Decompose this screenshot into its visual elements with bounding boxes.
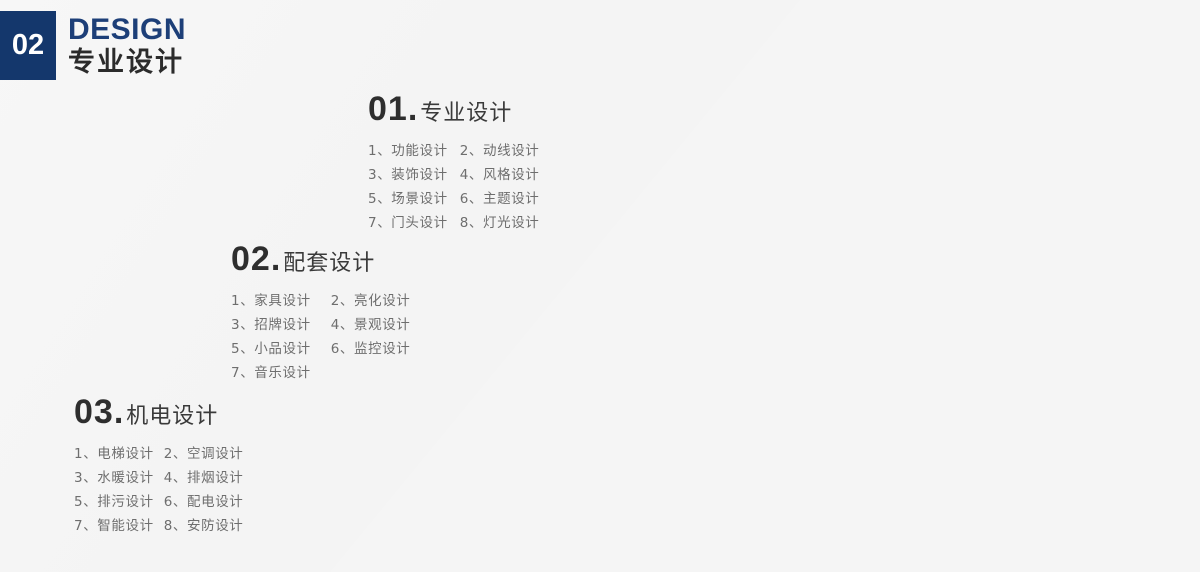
- list-row: 7、智能设计 8、安防设计: [74, 514, 243, 538]
- list-item: 7、音乐设计: [231, 361, 311, 385]
- section-01-heading: 01. 专业设计: [368, 90, 539, 129]
- content-section-02: 02. 配套设计 1、家具设计 2、亮化设计 3、招牌设计 4、景观设计 5、小…: [231, 240, 410, 385]
- list-row: 5、场景设计 6、主题设计: [368, 187, 539, 211]
- list-item: 3、装饰设计: [368, 163, 448, 187]
- list-item: 4、景观设计: [331, 313, 411, 337]
- list-item: 5、排污设计: [74, 490, 154, 514]
- list-item: 5、场景设计: [368, 187, 448, 211]
- page-title-en: DESIGN: [68, 14, 186, 46]
- list-item: 5、小品设计: [231, 337, 311, 361]
- list-item: 6、配电设计: [164, 490, 244, 514]
- section-01-number: 01.: [368, 90, 418, 129]
- section-02-number: 02.: [231, 240, 281, 279]
- list-item: 2、动线设计: [460, 139, 540, 163]
- list-row: 3、招牌设计 4、景观设计: [231, 313, 410, 337]
- slide-root: 02 DESIGN 专业设计 01. 专业设计 1、功能设计 2、动线设计 3、…: [0, 0, 1200, 572]
- section-02-name: 配套设计: [283, 245, 375, 277]
- list-row: 1、家具设计 2、亮化设计: [231, 289, 410, 313]
- section-03-name: 机电设计: [126, 398, 218, 430]
- list-item: 3、水暖设计: [74, 466, 154, 490]
- list-item: 1、家具设计: [231, 289, 311, 313]
- header-text-block: DESIGN 专业设计: [68, 14, 186, 77]
- list-row: 1、电梯设计 2、空调设计: [74, 442, 243, 466]
- section-01-name: 专业设计: [420, 95, 512, 127]
- list-item: 2、空调设计: [164, 442, 244, 466]
- list-row: 3、水暖设计 4、排烟设计: [74, 466, 243, 490]
- list-row: 5、排污设计 6、配电设计: [74, 490, 243, 514]
- list-row: 5、小品设计 6、监控设计: [231, 337, 410, 361]
- section-number-badge: 02: [0, 11, 56, 80]
- content-section-01: 01. 专业设计 1、功能设计 2、动线设计 3、装饰设计 4、风格设计 5、场…: [368, 90, 539, 235]
- list-item: 8、灯光设计: [460, 211, 540, 235]
- list-item: 1、电梯设计: [74, 442, 154, 466]
- list-item: 1、功能设计: [368, 139, 448, 163]
- list-item: 7、智能设计: [74, 514, 154, 538]
- list-item: 6、主题设计: [460, 187, 540, 211]
- list-item: 3、招牌设计: [231, 313, 311, 337]
- content-section-03: 03. 机电设计 1、电梯设计 2、空调设计 3、水暖设计 4、排烟设计 5、排…: [74, 393, 243, 538]
- list-row: 3、装饰设计 4、风格设计: [368, 163, 539, 187]
- list-item: 2、亮化设计: [331, 289, 411, 313]
- section-03-number: 03.: [74, 393, 124, 432]
- section-03-heading: 03. 机电设计: [74, 393, 243, 432]
- section-03-item-list: 1、电梯设计 2、空调设计 3、水暖设计 4、排烟设计 5、排污设计 6、配电设…: [74, 442, 243, 538]
- list-item: 8、安防设计: [164, 514, 244, 538]
- slide-header: 02 DESIGN 专业设计: [0, 11, 186, 80]
- list-item: 4、风格设计: [460, 163, 540, 187]
- list-row: 1、功能设计 2、动线设计: [368, 139, 539, 163]
- section-02-heading: 02. 配套设计: [231, 240, 410, 279]
- list-item: 7、门头设计: [368, 211, 448, 235]
- section-01-item-list: 1、功能设计 2、动线设计 3、装饰设计 4、风格设计 5、场景设计 6、主题设…: [368, 139, 539, 235]
- list-item: 4、排烟设计: [164, 466, 244, 490]
- list-item: 6、监控设计: [331, 337, 411, 361]
- page-title-cn: 专业设计: [68, 48, 186, 78]
- list-row: 7、音乐设计: [231, 361, 410, 385]
- list-row: 7、门头设计 8、灯光设计: [368, 211, 539, 235]
- section-02-item-list: 1、家具设计 2、亮化设计 3、招牌设计 4、景观设计 5、小品设计 6、监控设…: [231, 289, 410, 385]
